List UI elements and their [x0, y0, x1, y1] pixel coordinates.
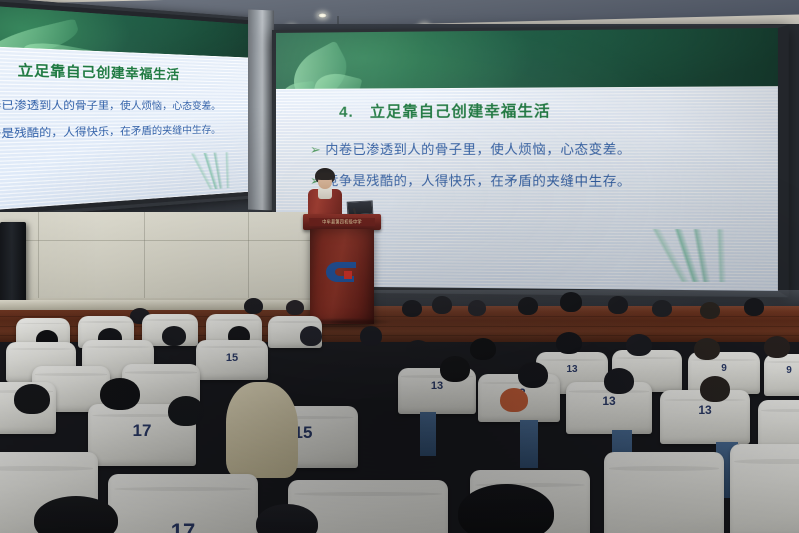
- audience-head: [744, 298, 764, 316]
- seat[interactable]: [730, 444, 799, 533]
- presenter: [305, 168, 345, 220]
- side-screen-slide: 4. 立足靠自己创建幸福生活 内卷已渗透到人的骨子里，使人烦恼，心态变差。 竞争…: [0, 4, 254, 213]
- podium-banner: 中牟县第四初级中学: [309, 218, 375, 226]
- seat-cover: [730, 444, 799, 533]
- audience-person-hooded: [226, 382, 298, 478]
- slide-bullet-2: ➢竞争是残酷的，人得快乐，在矛盾的夹缝中生存。: [310, 170, 631, 190]
- audience-head: [468, 300, 486, 316]
- seat[interactable]: 9: [764, 354, 799, 396]
- slide-bullet-1-text: 内卷已渗透到人的骨子里，使人烦恼，心态变差。: [325, 142, 631, 158]
- slide-title: 4. 立足靠自己创建幸福生活: [339, 100, 551, 122]
- bullet-marker-icon: ➢: [310, 142, 321, 157]
- audience-head: [518, 297, 538, 315]
- audience-head: [700, 302, 720, 319]
- podium-top: 中牟县第四初级中学: [303, 214, 381, 230]
- seat-number: 13: [660, 403, 750, 417]
- presenter-hair-front: [316, 173, 334, 180]
- audience-head: [162, 326, 186, 346]
- audience-head: [626, 334, 652, 356]
- seat-number: 15: [196, 352, 268, 364]
- audience-head: [608, 296, 628, 314]
- seat-number: 9: [688, 363, 760, 374]
- audience-head: [244, 298, 263, 314]
- seat-armrest: [520, 420, 538, 468]
- lower-wall-tiles: [0, 212, 330, 312]
- seat-number: 9: [764, 365, 799, 376]
- audience-head: [556, 332, 582, 354]
- slide-bullet-1: 内卷已渗透到人的骨子里，使人烦恼，心态变差。: [0, 96, 220, 113]
- audience-head: [34, 496, 118, 533]
- audience-head: [694, 338, 720, 360]
- seat[interactable]: 17: [108, 474, 258, 533]
- audience-head: [458, 484, 554, 533]
- audience-head: [500, 388, 528, 412]
- seat-cover: [604, 452, 724, 533]
- podium-body: [310, 229, 374, 324]
- audience-head: [14, 384, 50, 414]
- audience-head: [604, 368, 634, 394]
- audience-head: [406, 340, 430, 360]
- slide-bullet-1: ➢内卷已渗透到人的骨子里，使人烦恼，心态变差。: [310, 139, 631, 159]
- audience-head: [432, 296, 452, 314]
- audience-head: [360, 326, 382, 346]
- podium: 中牟县第四初级中学: [303, 214, 381, 324]
- slide-grass-decoration: [623, 229, 757, 283]
- seat[interactable]: [604, 452, 724, 533]
- audience-head: [652, 300, 672, 317]
- audience-head: [518, 362, 548, 388]
- slide-bullet-2-text: 竞争是残酷的，人得快乐，在矛盾的夹缝中生存。: [325, 173, 631, 189]
- seat-number: 17: [108, 519, 258, 533]
- slide-grass-decoration: [179, 152, 244, 191]
- audience-head: [700, 376, 730, 402]
- wall-pillar: [248, 10, 274, 211]
- audience-head: [300, 326, 322, 346]
- school-logo-icon: [324, 259, 360, 285]
- school-logo: [324, 259, 360, 285]
- seat-armrest: [420, 412, 436, 456]
- seat-number: 13: [398, 380, 476, 392]
- audience-head: [440, 356, 470, 382]
- audience-head: [560, 292, 582, 312]
- audience-head: [764, 336, 790, 358]
- seat[interactable]: 15: [196, 340, 268, 380]
- downlight: [318, 13, 327, 18]
- audience-head: [100, 378, 140, 410]
- audience-head: [286, 300, 304, 315]
- podium-banner-text: 中牟县第四初级中学: [322, 218, 362, 226]
- audience-head: [402, 300, 422, 317]
- seat-number: 13: [566, 394, 652, 408]
- audience-head: [168, 396, 204, 426]
- auditorium-scene: 4. 立足靠自己创建幸福生活 内卷已渗透到人的骨子里，使人烦恼，心态变差。 竞争…: [0, 0, 799, 533]
- side-screen-frame: 4. 立足靠自己创建幸福生活 内卷已渗透到人的骨子里，使人烦恼，心态变差。 竞争…: [0, 0, 260, 222]
- audience-head: [470, 338, 496, 360]
- side-projection-screen: 4. 立足靠自己创建幸福生活 内卷已渗透到人的骨子里，使人烦恼，心态变差。 竞争…: [0, 0, 260, 222]
